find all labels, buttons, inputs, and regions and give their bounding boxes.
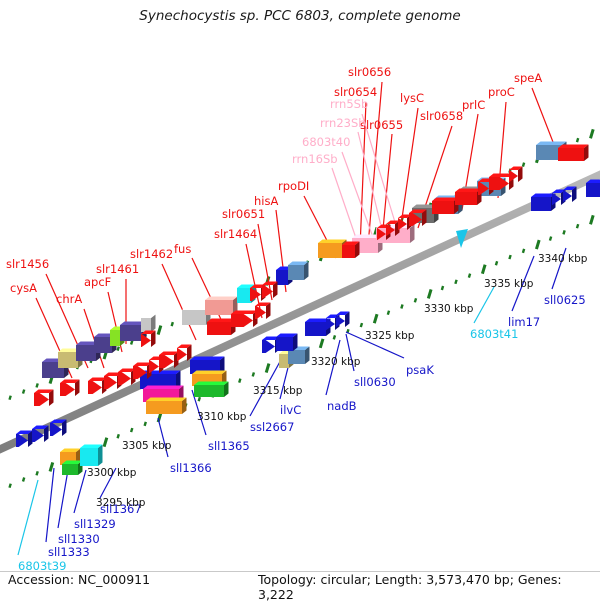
gene-forward[interactable] <box>231 311 258 328</box>
guide-dash <box>50 462 53 471</box>
gene-label-nadB[interactable]: nadB <box>327 400 357 412</box>
guide-dash <box>482 265 485 274</box>
gene-label-slr1462[interactable]: slr1462 <box>130 248 173 260</box>
guide-dash <box>131 341 132 345</box>
gene-label-fus[interactable]: fus <box>174 243 191 255</box>
leader-line <box>358 132 384 238</box>
guide-dash <box>563 230 564 234</box>
status-bar: Accession: NC_000911 Topology: circular;… <box>0 572 600 594</box>
gene-front-face <box>288 265 304 280</box>
gene-label-slr0651[interactable]: slr0651 <box>222 208 265 220</box>
axis-tick-3310-kbp[interactable]: 3310 kbp <box>197 411 246 423</box>
gene-front-face <box>88 381 102 394</box>
gene-front-face <box>104 376 117 389</box>
gene-label-sll1365[interactable]: sll1365 <box>208 440 250 452</box>
genome-map-viewer: Synechocystis sp. PCC 6803, complete gen… <box>0 0 600 600</box>
guide-dash <box>118 347 119 351</box>
gene-block[interactable] <box>62 461 83 476</box>
guide-dash <box>455 280 456 284</box>
guide-dash <box>334 335 335 339</box>
gene-label-sll1366[interactable]: sll1366 <box>170 462 212 474</box>
gene-front-face <box>146 401 182 414</box>
gene-front-face <box>276 270 288 285</box>
guide-dash <box>320 339 323 348</box>
rna-label-rrn5Sb[interactable]: rrn5Sb <box>330 98 368 110</box>
gene-label-apcF[interactable]: apcF <box>84 276 111 288</box>
gene-label-rpoDI[interactable]: rpoDI <box>278 180 309 192</box>
gene-forward[interactable] <box>558 145 589 162</box>
gene-forward[interactable] <box>409 210 427 227</box>
guide-dash <box>523 163 524 167</box>
guide-dash <box>37 383 38 387</box>
gene-front-face <box>118 372 131 385</box>
gene-block[interactable] <box>194 382 229 398</box>
guide-dash <box>428 289 431 298</box>
gene-front-face <box>58 352 78 368</box>
guide-dash <box>118 434 119 438</box>
guide-dash <box>172 322 173 326</box>
guide-dash <box>104 438 107 447</box>
axis-tick-3340-kbp[interactable]: 3340 kbp <box>538 253 587 265</box>
gene-reverse[interactable] <box>336 312 350 328</box>
topology-text: Topology: circular; Length: 3,573,470 bp… <box>258 572 600 602</box>
guide-dash <box>158 326 161 335</box>
gene-front-face <box>110 330 120 346</box>
gene-front-face <box>34 393 49 406</box>
leader-line <box>162 264 196 340</box>
guide-dash <box>590 129 593 138</box>
gene-forward[interactable] <box>509 167 523 183</box>
leader-line <box>46 468 54 542</box>
gene-front-face <box>262 340 275 353</box>
gene-label-lysC[interactable]: lysC <box>400 92 424 104</box>
gene-block[interactable] <box>146 398 187 415</box>
guide-dash <box>239 379 240 383</box>
gene-reverse[interactable] <box>586 180 600 198</box>
gene-forward[interactable] <box>262 282 278 299</box>
gene-top-face <box>192 371 227 375</box>
gene-label-sll1329[interactable]: sll1329 <box>74 518 116 530</box>
guide-dash <box>509 255 510 259</box>
axis-tick-3325-kbp[interactable]: 3325 kbp <box>365 330 414 342</box>
gene-front-face <box>288 350 305 364</box>
axis-tick-3315-kbp[interactable]: 3315 kbp <box>253 385 302 397</box>
gene-top-face <box>146 398 187 402</box>
guide-dash <box>401 305 402 309</box>
rna-label-rrn23Sb[interactable]: rrn23Sb <box>320 117 366 129</box>
gene-top-face <box>231 311 258 315</box>
leader-line <box>18 480 38 555</box>
gene-top-face <box>536 142 567 146</box>
gene-front-face <box>279 354 289 368</box>
leader-line <box>246 244 262 318</box>
gene-front-face <box>489 177 509 190</box>
axis-tick-3335-kbp[interactable]: 3335 kbp <box>484 278 533 290</box>
axis-tick-3320-kbp[interactable]: 3320 kbp <box>311 356 360 368</box>
gene-front-face <box>342 245 355 258</box>
guide-dash <box>361 323 362 327</box>
gene-block[interactable] <box>288 262 309 281</box>
gene-label-psaK[interactable]: psaK <box>406 364 434 376</box>
leader-line <box>382 134 392 240</box>
gene-forward[interactable] <box>118 369 136 386</box>
gene-front-face <box>120 325 142 341</box>
gene-front-face <box>62 464 78 475</box>
guide-dash <box>577 224 578 228</box>
axis-tick-3330-kbp[interactable]: 3330 kbp <box>424 303 473 315</box>
gene-label-slr1456[interactable]: slr1456 <box>6 258 49 270</box>
gene-front-face <box>194 385 224 397</box>
axis-tick-3295-kbp[interactable]: 3295 kbp <box>96 497 145 509</box>
accession-text: Accession: NC_000911 <box>8 572 150 587</box>
gene-label-ilvC[interactable]: ilvC <box>280 404 301 416</box>
rna-label-rrn16Sb[interactable]: rrn16Sb <box>292 153 338 165</box>
guide-dash <box>199 397 200 401</box>
gene-front-face <box>586 183 600 197</box>
gene-label-sll0630[interactable]: sll0630 <box>354 376 396 388</box>
guide-dash <box>374 314 377 323</box>
gene-front-face <box>141 318 151 332</box>
gene-forward[interactable] <box>432 198 459 215</box>
gene-front-face <box>432 201 454 214</box>
gene-label-ssl2667[interactable]: ssl2667 <box>250 421 294 433</box>
gene-label-slr1464[interactable]: slr1464 <box>214 228 257 240</box>
gene-front-face <box>177 348 187 361</box>
gene-label-prlC[interactable]: prlC <box>462 99 485 111</box>
leader-line <box>332 168 358 244</box>
gene-front-face <box>76 345 96 361</box>
guide-dash <box>550 237 551 241</box>
gene-label-slr0658[interactable]: slr0658 <box>420 110 463 122</box>
guide-dash <box>388 311 389 315</box>
axis-tick-3305-kbp[interactable]: 3305 kbp <box>122 440 171 452</box>
leader-line <box>58 470 68 528</box>
gene-reverse[interactable] <box>563 187 577 203</box>
axis-tick-3300-kbp[interactable]: 3300 kbp <box>87 467 136 479</box>
gene-forward[interactable] <box>34 390 54 407</box>
guide-dash <box>415 298 416 302</box>
gene-front-face <box>305 322 326 336</box>
trna-label-6803t41[interactable]: 6803t41 <box>470 328 518 340</box>
gene-reverse[interactable] <box>50 420 67 437</box>
gene-front-face <box>60 383 75 396</box>
gene-top-face <box>432 198 459 202</box>
gene-front-face <box>182 310 206 325</box>
gene-front-face <box>558 148 584 161</box>
gene-block[interactable] <box>141 315 156 333</box>
gene-front-face <box>159 355 174 368</box>
guide-dash <box>131 428 132 432</box>
gene-front-face <box>80 448 98 466</box>
gene-top-face <box>194 382 229 386</box>
guide-dash <box>145 422 146 426</box>
guide-dash <box>590 215 593 224</box>
gene-front-face <box>207 322 231 335</box>
guide-dash <box>469 274 470 278</box>
guide-dash <box>10 396 11 400</box>
guide-dash <box>253 372 254 376</box>
leader-line <box>74 470 86 513</box>
gene-label-slr1461[interactable]: slr1461 <box>96 263 139 275</box>
gene-top-face <box>205 297 238 301</box>
gene-forward[interactable] <box>342 242 360 259</box>
gene-front-face <box>205 300 233 315</box>
guide-dash <box>23 477 24 481</box>
leader-line <box>342 152 374 240</box>
gene-top-face <box>455 189 482 193</box>
gene-front-face <box>237 288 251 303</box>
guide-dash <box>577 138 578 142</box>
gene-forward[interactable] <box>60 380 80 397</box>
gene-reverse[interactable] <box>16 431 33 448</box>
gene-label-chrA[interactable]: chrA <box>56 293 82 305</box>
guide-dash <box>523 249 524 253</box>
gene-front-face <box>318 243 342 258</box>
guide-dash <box>37 471 38 475</box>
guide-dash <box>496 261 497 265</box>
guide-dash <box>442 286 443 290</box>
gene-label-slr0656[interactable]: slr0656 <box>348 66 391 78</box>
gene-front-face <box>94 337 112 353</box>
guide-dash <box>10 484 11 488</box>
gene-front-face <box>255 306 266 319</box>
gene-forward[interactable] <box>88 378 107 395</box>
gene-block[interactable] <box>80 445 103 467</box>
guide-dash <box>23 390 24 394</box>
gene-front-face <box>276 337 293 351</box>
gene-side-face <box>98 445 103 467</box>
gene-label-proC[interactable]: proC <box>488 86 515 98</box>
gene-front-face <box>455 192 477 205</box>
gene-top-face <box>558 145 589 149</box>
gene-top-face <box>318 240 347 244</box>
gene-forward[interactable] <box>159 352 179 369</box>
gene-forward[interactable] <box>255 303 271 320</box>
gene-reverse[interactable] <box>276 334 298 352</box>
gene-reverse[interactable] <box>531 194 556 212</box>
gene-label-speA[interactable]: speA <box>514 72 542 84</box>
gene-reverse[interactable] <box>32 426 49 443</box>
guide-dash <box>266 364 269 373</box>
gene-top-face <box>190 357 225 361</box>
gene-block[interactable] <box>205 297 238 316</box>
gene-label-slr0655[interactable]: slr0655 <box>360 119 403 131</box>
gene-front-face <box>531 197 551 211</box>
gene-top-face <box>143 386 184 390</box>
leader-line <box>474 287 494 323</box>
gene-label-cysA[interactable]: cysA <box>10 282 37 294</box>
gene-label-sll1330[interactable]: sll1330 <box>58 533 100 545</box>
gene-front-face <box>336 315 345 327</box>
gene-forward[interactable] <box>141 331 156 348</box>
gene-forward[interactable] <box>177 345 192 362</box>
guide-dash <box>536 240 539 249</box>
rna-label-6803t40[interactable]: 6803t40 <box>302 136 350 148</box>
gene-label-sll1333[interactable]: sll1333 <box>48 546 90 558</box>
gene-front-face <box>231 314 253 327</box>
gene-forward[interactable] <box>455 189 482 206</box>
gene-label-hisA[interactable]: hisA <box>254 195 278 207</box>
gene-label-sll0625[interactable]: sll0625 <box>544 294 586 306</box>
